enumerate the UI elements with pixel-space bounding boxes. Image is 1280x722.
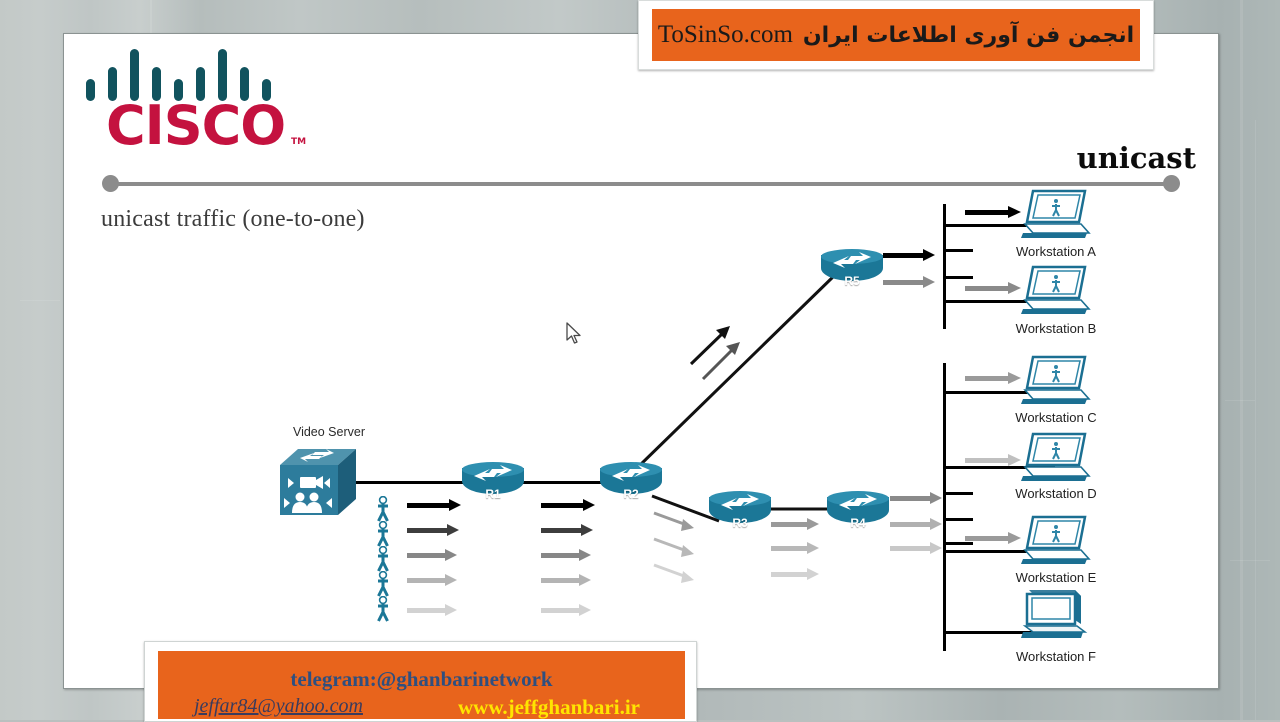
traffic-arrow (965, 454, 1021, 466)
video-server-label: Video Server (269, 425, 389, 439)
router-label: R5 (821, 274, 883, 288)
traffic-arrow (965, 282, 1021, 294)
router-r3[interactable]: R3 (709, 491, 771, 529)
workstation-a-icon[interactable] (1019, 189, 1091, 241)
traffic-arrow (541, 604, 591, 616)
diagonal-traffic-arrow (691, 326, 730, 364)
network-diagram: Video Server (64, 34, 1218, 688)
bus-stub (943, 249, 973, 252)
stream-user-icon (376, 496, 390, 522)
diagonal-traffic-arrow (703, 342, 740, 379)
traffic-arrow (890, 518, 942, 530)
router-label: R2 (600, 487, 662, 501)
traffic-arrow (890, 492, 942, 504)
stream-user-icon (376, 521, 390, 547)
stream-user-icon (376, 546, 390, 572)
workstation-b-label: Workstation B (991, 321, 1121, 336)
traffic-arrow (965, 372, 1021, 384)
workstation-b-icon[interactable] (1019, 265, 1091, 317)
workstation-d-icon[interactable] (1019, 432, 1091, 484)
banner-persian-text: انجمن فن آوری اطلاعات ایران (803, 23, 1134, 48)
workstation-d-label: Workstation D (991, 486, 1121, 501)
traffic-arrow (771, 518, 819, 530)
bus-line-upper (943, 204, 946, 329)
top-watermark-banner: انجمن فن آوری اطلاعات ایران ToSinSo.com (638, 0, 1154, 70)
telegram-handle[interactable]: telegram:@ghanbarinetwork (158, 667, 685, 692)
bus-stub (943, 518, 973, 521)
presentation-slide: CISCO TM unicast unicast traffic (one-to… (63, 33, 1219, 689)
router-label: R1 (462, 487, 524, 501)
traffic-arrow (407, 524, 459, 536)
traffic-arrow (771, 542, 819, 554)
stream-user-icon (376, 596, 390, 622)
diagonal-traffic-arrow (654, 565, 694, 583)
link-r1-r2 (519, 481, 604, 484)
router-r4[interactable]: R4 (827, 491, 889, 529)
traffic-arrow (407, 604, 457, 616)
traffic-arrow (965, 206, 1021, 218)
workstation-e-label: Workstation E (991, 570, 1121, 585)
traffic-arrow (407, 499, 461, 511)
traffic-arrow (883, 276, 935, 288)
traffic-arrow (890, 542, 942, 554)
router-r2[interactable]: R2 (600, 462, 662, 500)
email-address[interactable]: jeffar84@yahoo.com (194, 695, 363, 718)
banner-site-name: ToSinSo.com (658, 21, 793, 49)
diagonal-traffic-arrow (654, 539, 694, 557)
router-r1[interactable]: R1 (462, 462, 524, 500)
workstation-c-icon[interactable] (1019, 355, 1091, 407)
bus-stub (943, 276, 973, 279)
traffic-arrow (771, 568, 819, 580)
traffic-arrow (407, 574, 457, 586)
workstation-c-label: Workstation C (991, 410, 1121, 425)
video-server-icon (278, 445, 358, 517)
traffic-arrow (541, 574, 591, 586)
bus-line-lower (943, 363, 946, 651)
router-label: R4 (827, 516, 889, 530)
link-server-r1 (356, 481, 466, 484)
bus-stub (943, 492, 973, 495)
traffic-arrow (541, 499, 595, 511)
traffic-arrow (541, 549, 591, 561)
bottom-contact-banner: telegram:@ghanbarinetwork jeffar84@yahoo… (144, 641, 697, 722)
traffic-arrow (407, 549, 457, 561)
traffic-arrow (541, 524, 593, 536)
workstation-f-icon[interactable] (1019, 586, 1089, 642)
workstation-e-icon[interactable] (1019, 515, 1091, 567)
router-label: R3 (709, 516, 771, 530)
workstation-f-label: Workstation F (991, 649, 1121, 664)
diagonal-traffic-arrow (654, 513, 694, 531)
traffic-arrow (965, 532, 1021, 544)
stream-user-icon (376, 571, 390, 597)
router-r5[interactable]: R5 (821, 249, 883, 287)
workstation-a-label: Workstation A (991, 244, 1121, 259)
website-url[interactable]: www.jeffghanbari.ir (458, 695, 640, 720)
mouse-cursor (566, 322, 584, 346)
traffic-arrow (883, 249, 935, 261)
